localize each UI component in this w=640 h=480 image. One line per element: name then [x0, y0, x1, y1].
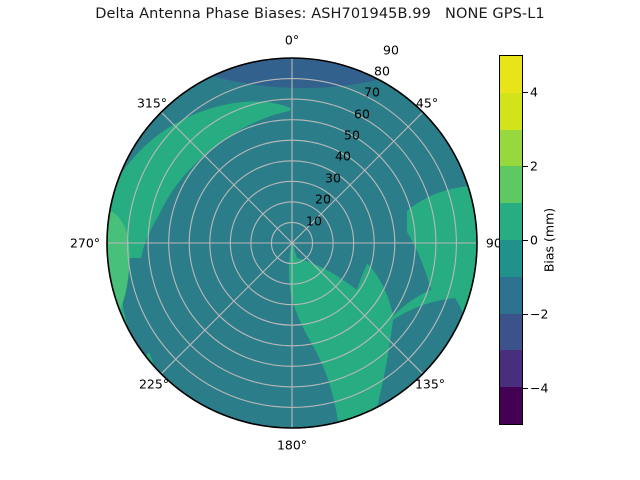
figure-canvas: Delta Antenna Phase Biases: ASH701945B.9…	[0, 0, 640, 480]
radial-label-20: 20	[315, 192, 331, 207]
angle-label-315: 315°	[137, 96, 167, 111]
colorbar-tick-4	[523, 92, 528, 93]
colorbar-gradient-strip[interactable]	[499, 55, 523, 425]
colorbar-band-1-to-2	[500, 166, 522, 203]
angle-label-45: 45°	[416, 96, 438, 111]
radial-label-70: 70	[364, 85, 380, 100]
radial-label-60: 60	[354, 107, 370, 122]
colorbar-tick-0	[523, 240, 528, 241]
angle-label-180: 180°	[277, 438, 307, 453]
colorbar-axis-label: Bias (mm)	[542, 208, 557, 272]
colorbar-tick-2	[523, 166, 528, 167]
colorbar-tick-neg4	[523, 388, 528, 389]
polar-axes[interactable]: 0° 45° 90° 135° 180° 225° 270° 315° 10 2…	[107, 58, 477, 428]
colorbar-band--1-to-0	[500, 240, 522, 277]
colorbar-band-4-to-5	[500, 56, 522, 93]
radial-label-80: 80	[374, 64, 390, 79]
colorbar-ticklabel-0: 0	[530, 233, 538, 248]
colorbar-tick-neg2	[523, 314, 528, 315]
colorbar-band--5-to--4	[500, 387, 522, 424]
colorbar-ticklabel-2: 2	[530, 159, 538, 174]
colorbar-ticklabel-neg2: −2	[530, 307, 548, 322]
radial-label-10: 10	[306, 214, 322, 229]
colorbar[interactable]: 4 2 0 −2 −4	[499, 55, 523, 425]
angle-label-135: 135°	[415, 377, 445, 392]
colorbar-band--3-to--2	[500, 314, 522, 351]
chart-title: Delta Antenna Phase Biases: ASH701945B.9…	[0, 6, 640, 22]
angular-gridlines	[107, 58, 477, 428]
angle-label-225: 225°	[139, 377, 169, 392]
angle-label-270: 270°	[70, 236, 100, 251]
radial-label-30: 30	[325, 171, 341, 186]
colorbar-band--4-to--3	[500, 350, 522, 387]
angle-label-0: 0°	[285, 33, 299, 48]
radial-label-90: 90	[383, 43, 399, 58]
colorbar-ticklabel-neg4: −4	[530, 381, 548, 396]
colorbar-band-0-to-1	[500, 203, 522, 240]
colorbar-band--2-to--1	[500, 277, 522, 314]
radial-label-50: 50	[344, 128, 360, 143]
region-bright-green-west	[83, 208, 130, 317]
colorbar-ticklabel-4: 4	[530, 85, 538, 100]
colorbar-band-3-to-4	[500, 93, 522, 130]
polar-plot-svg	[107, 58, 477, 428]
colorbar-band-2-to-3	[500, 130, 522, 167]
radial-label-40: 40	[335, 149, 351, 164]
